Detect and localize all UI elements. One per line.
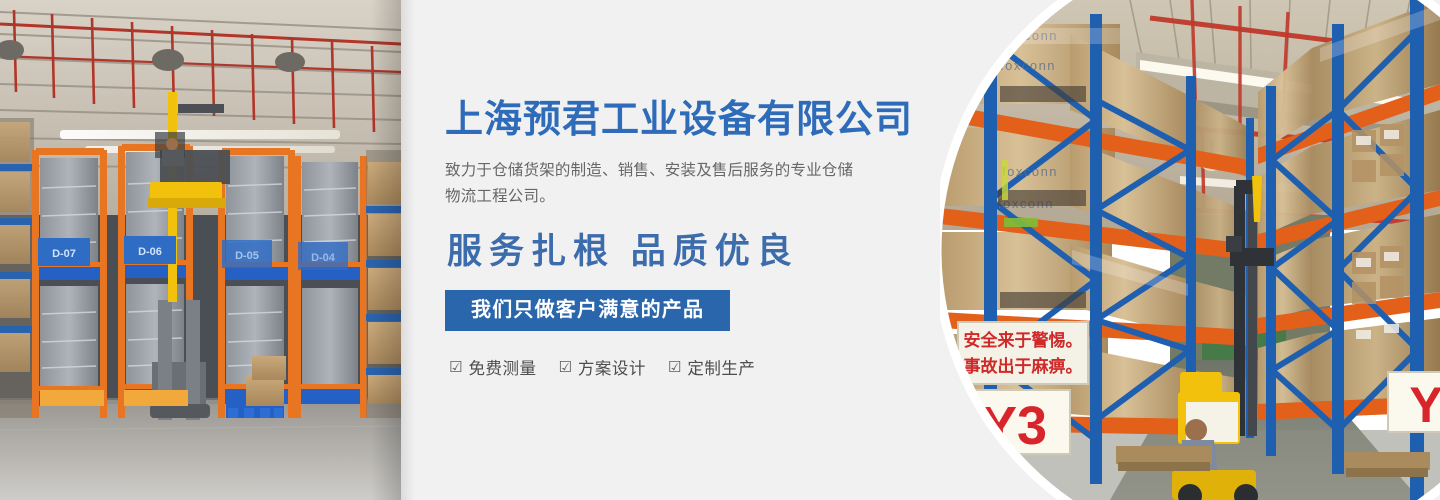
svg-text:D-04: D-04	[311, 252, 336, 264]
company-slogan: 服务扎根 品质优良	[447, 230, 915, 274]
company-description: 致力于仓储货架的制造、销售、安装及售后服务的专业仓储物流工程公司。	[445, 158, 865, 210]
right-photo-artwork: foxconn foxconn foxconn foxconn	[940, 0, 1440, 500]
svg-text:D-05: D-05	[235, 250, 259, 262]
svg-text:foxconn: foxconn	[1002, 164, 1058, 179]
hero-copy: 上海预君工业设备有限公司 致力于仓储货架的制造、销售、安装及售后服务的专业仓储物…	[445, 96, 915, 379]
company-title: 上海预君工业设备有限公司	[445, 96, 915, 144]
svg-text:事故出于麻痹。: 事故出于麻痹。	[964, 356, 1083, 376]
hero-banner: D-07 D-06 D-05 D-04 上海预君工业设备有限公司 致力于仓储货架…	[0, 0, 1440, 500]
checkbox-checked-icon: ☑	[449, 360, 462, 375]
feature-label: 免费测量	[468, 355, 536, 379]
svg-text:foxconn: foxconn	[1000, 58, 1056, 73]
feature-label: 定制生产	[687, 355, 755, 379]
checkbox-checked-icon: ☑	[558, 360, 571, 375]
aisle-marker-right: Y3	[1388, 372, 1440, 433]
svg-text:Y3: Y3	[1409, 377, 1440, 433]
svg-text:D-07: D-07	[52, 248, 76, 260]
left-photo-artwork: D-07 D-06 D-05 D-04	[0, 0, 401, 500]
left-warehouse-photo: D-07 D-06 D-05 D-04	[0, 0, 401, 500]
svg-text:安全来于警惕。: 安全来于警惕。	[964, 330, 1083, 350]
feature-list: ☑ 免费测量 ☑ 方案设计 ☑ 定制生产	[449, 355, 915, 379]
feature-item-custom-production[interactable]: ☑ 定制生产	[668, 355, 755, 379]
safety-sign: 安全来于警惕。 事故出于麻痹。	[958, 322, 1088, 384]
customer-pledge-banner[interactable]: 我们只做客户满意的产品	[445, 290, 730, 331]
feature-item-free-measurement[interactable]: ☑ 免费测量	[449, 355, 536, 379]
svg-text:D-06: D-06	[138, 246, 162, 258]
right-warehouse-photo-circle: foxconn foxconn foxconn foxconn	[940, 0, 1440, 500]
feature-label: 方案设计	[578, 355, 646, 379]
panel-left-edge-shadow	[401, 0, 415, 500]
checkbox-checked-icon: ☑	[668, 360, 681, 375]
feature-item-scheme-design[interactable]: ☑ 方案设计	[558, 355, 645, 379]
